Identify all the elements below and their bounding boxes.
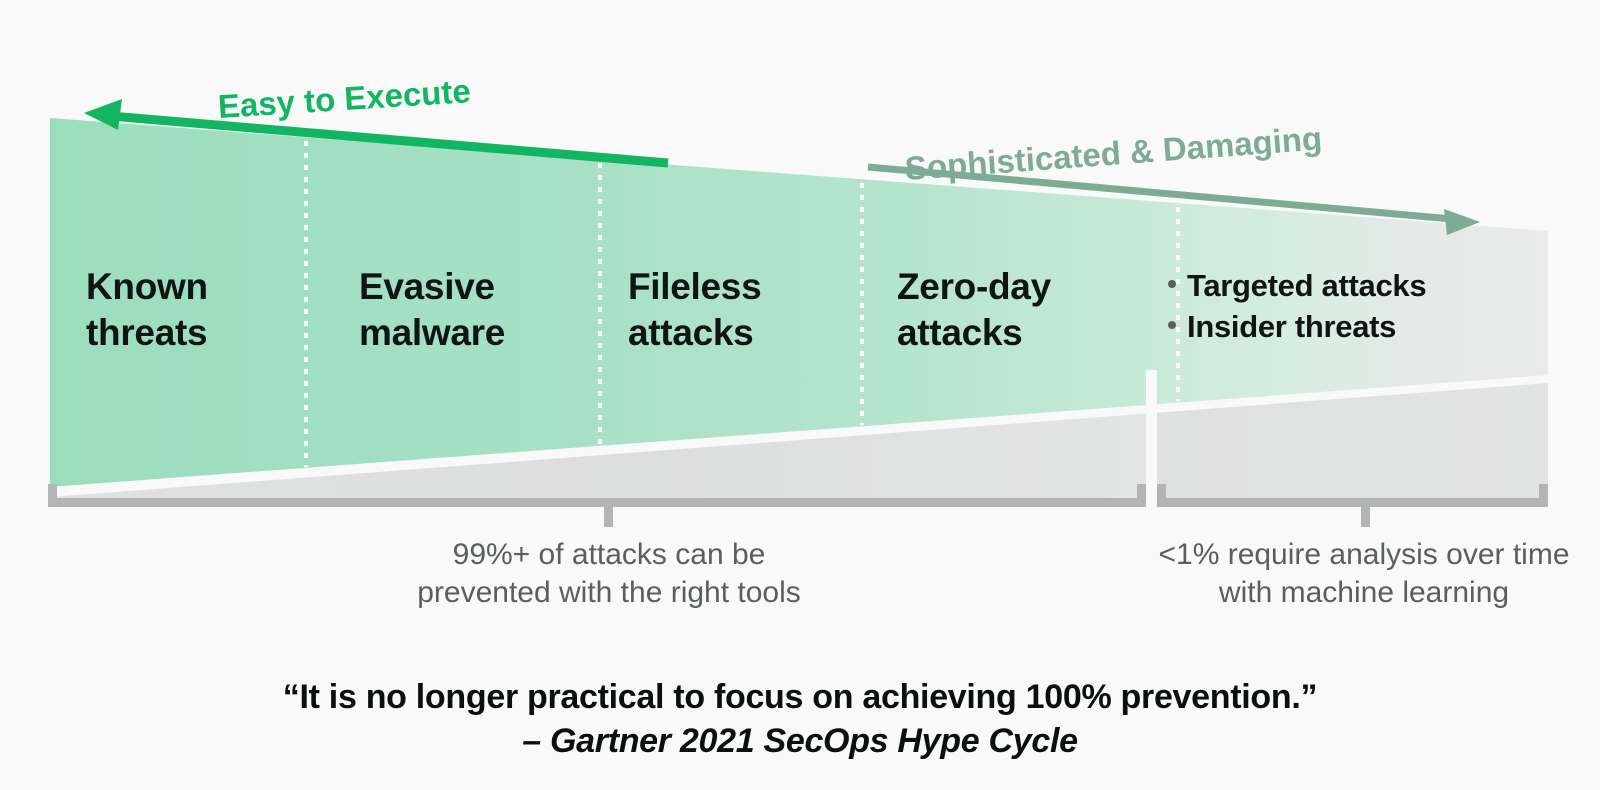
segment-evasive-malware[interactable]: Evasive malware [359, 264, 505, 356]
bullet-targeted-attacks-label: Targeted attacks [1187, 265, 1426, 306]
bracket-gap [1146, 370, 1157, 510]
bullet-insider-threats-label: Insider threats [1187, 306, 1396, 347]
caption-prevented: 99%+ of attacks can be prevented with th… [309, 536, 909, 612]
infographic-canvas: Easy to Execute Sophisticated & Damaging… [0, 0, 1600, 790]
bullet-targeted-attacks: Targeted attacks [1168, 265, 1426, 306]
bullet-dot-icon [1168, 280, 1176, 288]
bullet-dot-icon [1168, 321, 1176, 329]
segment-zero-day-attacks[interactable]: Zero-day attacks [897, 264, 1051, 356]
gartner-quote: “It is no longer practical to focus on a… [0, 678, 1600, 761]
segment-known-threats[interactable]: Known threats [86, 264, 208, 356]
segment-fileless-attacks[interactable]: Fileless attacks [628, 264, 761, 356]
quote-text: “It is no longer practical to focus on a… [0, 678, 1600, 717]
bullet-insider-threats: Insider threats [1168, 306, 1426, 347]
segment-advanced-threats[interactable]: Targeted attacks Insider threats [1168, 265, 1426, 347]
quote-attribution: – Gartner 2021 SecOps Hype Cycle [0, 722, 1600, 761]
caption-analysis: <1% require analysis over time with mach… [1064, 536, 1600, 612]
